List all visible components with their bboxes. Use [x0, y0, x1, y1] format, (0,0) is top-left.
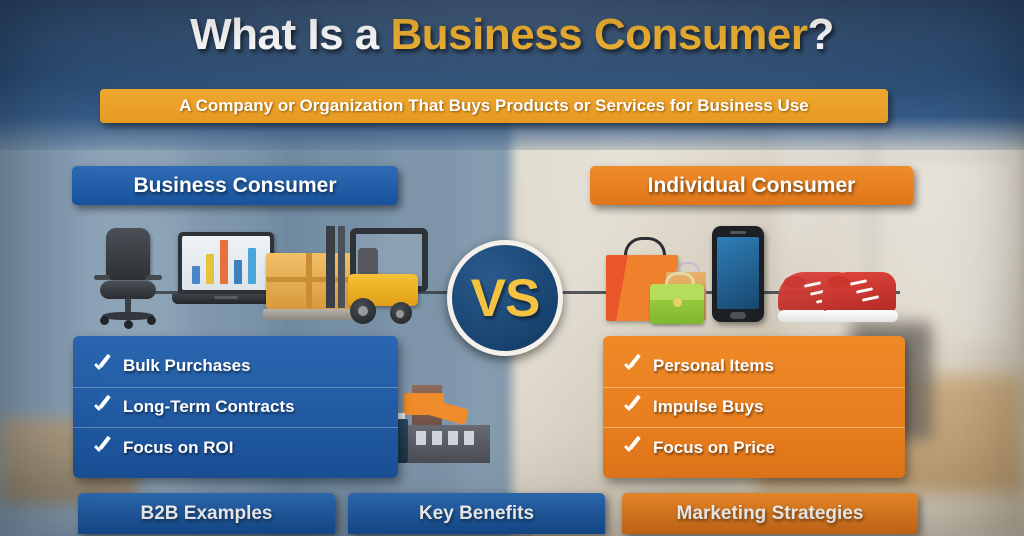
bottom-bar-label: B2B Examples — [140, 503, 272, 525]
sneakers-icon — [778, 248, 906, 322]
check-icon — [621, 396, 643, 418]
feature-label: Focus on ROI — [123, 438, 234, 458]
page-title: What Is a Business Consumer? — [0, 10, 1024, 60]
bottom-bar-marketing-strategies[interactable]: Marketing Strategies — [622, 493, 918, 534]
feature-panel-individual: Personal Items Impulse Buys Focus on Pri… — [603, 336, 905, 478]
column-header-individual-consumer[interactable]: Individual Consumer — [590, 166, 913, 205]
feature-label: Long-Term Contracts — [123, 397, 295, 417]
feature-item: Bulk Purchases — [73, 346, 398, 387]
vs-badge: VS — [447, 240, 563, 356]
office-chair-icon — [92, 228, 164, 326]
subtitle-text: A Company or Organization That Buys Prod… — [179, 96, 808, 116]
title-highlight: Business Consumer — [391, 10, 808, 59]
column-header-business-label: Business Consumer — [133, 174, 336, 198]
feature-label: Personal Items — [653, 356, 774, 376]
feature-label: Impulse Buys — [653, 397, 764, 417]
feature-label: Bulk Purchases — [123, 356, 251, 376]
title-part-one: What Is a — [190, 10, 390, 59]
feature-label: Focus on Price — [653, 438, 775, 458]
feature-item: Focus on ROI — [73, 427, 398, 468]
bottom-bar-label: Key Benefits — [419, 503, 534, 525]
check-icon — [91, 396, 113, 418]
check-icon — [621, 437, 643, 459]
check-icon — [91, 355, 113, 377]
feature-item: Personal Items — [603, 346, 905, 387]
vs-label: VS — [471, 268, 540, 329]
check-icon — [621, 355, 643, 377]
smartphone-icon — [712, 226, 764, 322]
feature-item: Focus on Price — [603, 427, 905, 468]
column-header-business-consumer[interactable]: Business Consumer — [72, 166, 398, 205]
bottom-bar-label: Marketing Strategies — [677, 503, 864, 525]
bottom-bar-key-benefits[interactable]: Key Benefits — [348, 493, 605, 534]
feature-item: Impulse Buys — [603, 387, 905, 428]
check-icon — [91, 437, 113, 459]
column-header-individual-label: Individual Consumer — [648, 174, 856, 198]
laptop-chart-icon — [172, 232, 280, 318]
subtitle-banner: A Company or Organization That Buys Prod… — [100, 89, 888, 123]
bottom-bar-b2b-examples[interactable]: B2B Examples — [78, 493, 335, 534]
feature-item: Long-Term Contracts — [73, 387, 398, 428]
feature-panel-business: Bulk Purchases Long-Term Contracts Focus… — [73, 336, 398, 478]
forklift-icon — [320, 222, 424, 326]
handbag-icon — [650, 272, 704, 324]
infographic-canvas: What Is a Business Consumer? A Company o… — [0, 0, 1024, 536]
title-part-three: ? — [807, 10, 833, 59]
laptop-bar-chart — [182, 236, 270, 290]
